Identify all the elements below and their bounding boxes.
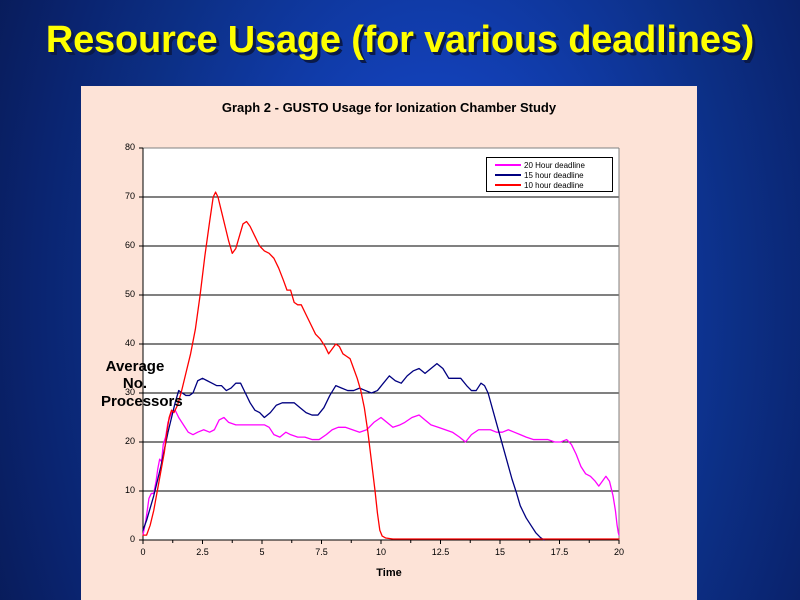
y-tick-label: 20 <box>109 436 135 446</box>
y-tick-label: 40 <box>109 338 135 348</box>
x-tick-label: 7.5 <box>307 547 337 557</box>
x-tick-label: 0 <box>128 547 158 557</box>
y-tick-label: 80 <box>109 142 135 152</box>
presentation-slide: Resource Usage (for various deadlines) G… <box>0 0 800 600</box>
y-axis-title-line2: No. Processors <box>101 375 169 410</box>
legend-label-series-1: 15 hour deadline <box>524 171 584 180</box>
y-tick-label: 60 <box>109 240 135 250</box>
legend-label-series-0: 20 Hour deadline <box>524 161 585 170</box>
x-tick-label: 15 <box>485 547 515 557</box>
y-tick-label: 10 <box>109 485 135 495</box>
x-tick-label: 2.5 <box>188 547 218 557</box>
x-axis-title: Time <box>81 567 697 579</box>
x-tick-label: 5 <box>247 547 277 557</box>
legend-item: 20 Hour deadline <box>495 160 612 170</box>
chart-legend: 20 Hour deadline 15 hour deadline 10 hou… <box>486 157 613 192</box>
legend-swatch-series-1 <box>495 174 521 176</box>
x-tick-label: 12.5 <box>426 547 456 557</box>
legend-item: 10 hour deadline <box>495 180 612 190</box>
y-tick-label: 70 <box>109 191 135 201</box>
legend-item: 15 hour deadline <box>495 170 612 180</box>
x-tick-label: 17.5 <box>545 547 575 557</box>
legend-label-series-2: 10 hour deadline <box>524 181 584 190</box>
legend-swatch-series-0 <box>495 164 521 166</box>
x-tick-label: 20 <box>604 547 634 557</box>
y-axis-title-line1: Average <box>101 358 169 375</box>
legend-swatch-series-2 <box>495 184 521 186</box>
y-axis-title: Average No. Processors <box>101 358 169 410</box>
slide-title: Resource Usage (for various deadlines) <box>0 19 800 62</box>
chart-panel: Graph 2 - GUSTO Usage for Ionization Cha… <box>81 86 697 600</box>
y-tick-label: 0 <box>109 534 135 544</box>
x-tick-label: 10 <box>366 547 396 557</box>
y-tick-label: 50 <box>109 289 135 299</box>
